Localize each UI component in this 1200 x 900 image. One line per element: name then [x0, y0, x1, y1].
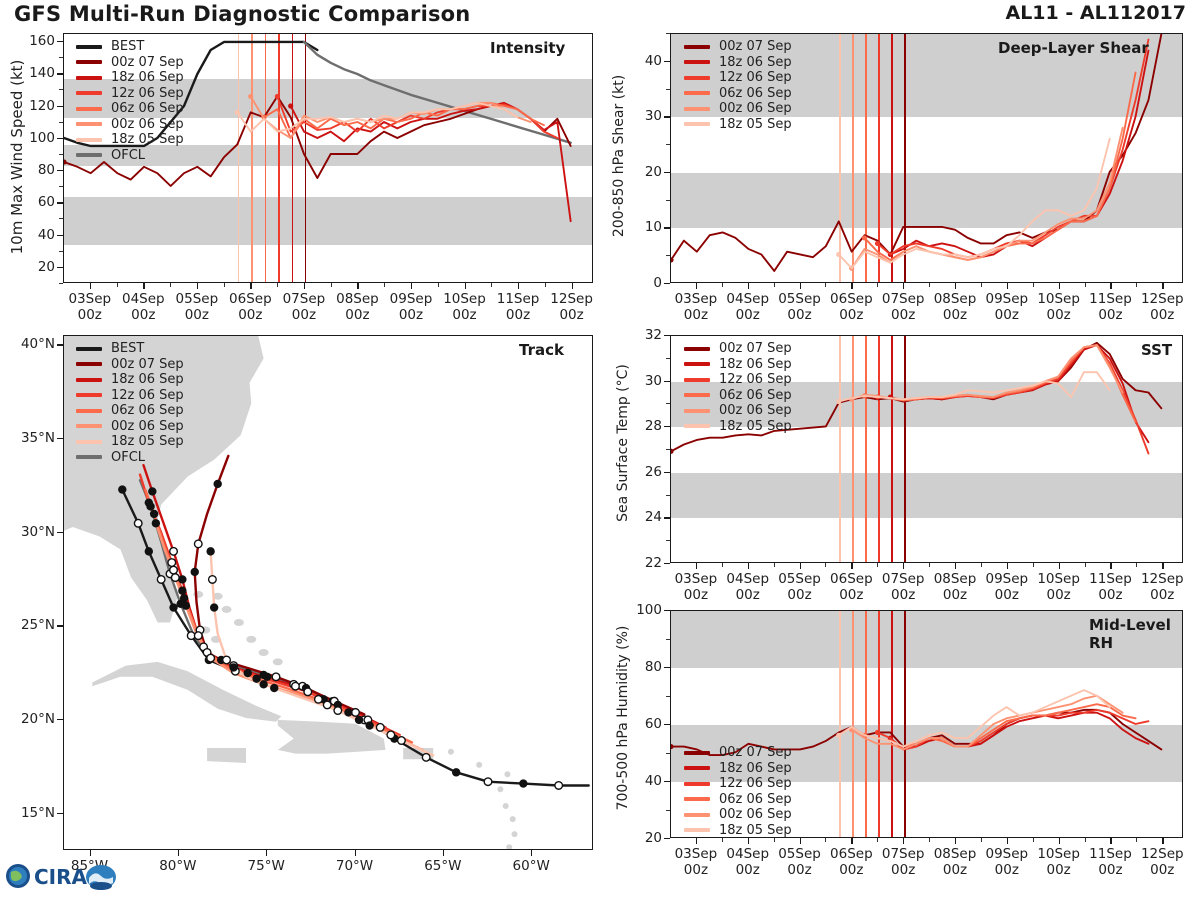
lat-tick-label: 30°N: [3, 524, 55, 540]
x-minor-tick-mark: [774, 563, 775, 567]
track-marker-00z: [178, 586, 186, 594]
lesser-antilles-island: [448, 749, 454, 755]
y-tick-mark: [57, 202, 63, 203]
track-marker-12z: [223, 656, 231, 664]
x-tick-label: 03Sep00z: [675, 292, 718, 324]
x-minor-tick-mark: [774, 283, 775, 287]
track-panel-title: Track: [519, 341, 564, 359]
bahamas-island: [222, 606, 232, 613]
series-start-marker: [63, 159, 67, 164]
legend-swatch-icon: [684, 91, 710, 95]
x-tick-mark: [143, 283, 144, 289]
bahamas-island: [246, 636, 256, 643]
x-tick-hour: 00z: [68, 308, 111, 324]
x-tick-hour: 00z: [830, 308, 873, 324]
track-marker-00z: [118, 485, 126, 493]
x-tick-hour: 00z: [1141, 308, 1184, 324]
series-start-marker: [288, 103, 293, 108]
legend-swatch-icon: [76, 440, 102, 444]
x-tick-date: 09Sep: [390, 292, 433, 308]
x-tick-mark: [903, 283, 904, 289]
x-minor-tick-mark: [1085, 838, 1086, 842]
legend-label: 12z 06 Sep: [111, 86, 184, 101]
shear-legend: 00z 07 Sep18z 06 Sep12z 06 Sep06z 06 Sep…: [684, 39, 792, 132]
y-tick-label: 20: [624, 830, 662, 846]
legend-swatch-icon: [684, 766, 710, 770]
x-tick-hour: 00z: [934, 588, 977, 604]
x-tick-label: 08Sep00z: [336, 292, 379, 324]
legend-swatch-icon: [76, 409, 102, 413]
x-tick-hour: 00z: [778, 308, 821, 324]
x-tick-label: 06Sep00z: [830, 847, 873, 879]
x-minor-tick-mark: [929, 838, 930, 842]
y-tick-label: 140: [17, 65, 55, 81]
x-tick-date: 03Sep: [68, 292, 111, 308]
track-marker-00z: [182, 601, 190, 609]
y-tick-label: 24: [624, 509, 662, 525]
x-tick-date: 12Sep: [1141, 292, 1184, 308]
x-minor-tick-mark: [981, 283, 982, 287]
x-tick-label: 11Sep00z: [1089, 847, 1132, 879]
x-tick-label: 07Sep00z: [882, 572, 925, 604]
x-tick-mark: [1110, 283, 1111, 289]
x-minor-tick-mark: [1033, 283, 1034, 287]
track-legend-entry: 00z 07 Sep: [76, 357, 184, 373]
x-minor-tick-mark: [277, 283, 278, 287]
legend-swatch-icon: [684, 107, 710, 111]
x-tick-hour: 00z: [986, 863, 1029, 879]
y-tick-label: 22: [624, 555, 662, 571]
track-marker-00z: [206, 547, 214, 555]
track-marker-12z: [209, 576, 217, 584]
legend-label: 18z 05 Sep: [111, 132, 184, 147]
x-tick-label: 10Sep00z: [1037, 572, 1080, 604]
lon-tick-label: 75°W: [248, 859, 285, 875]
y-tick-mark: [664, 335, 670, 336]
x-tick-date: 06Sep: [830, 572, 873, 588]
x-minor-tick-mark: [825, 838, 826, 842]
shear-panel-title: Deep-Layer Shear: [998, 39, 1149, 57]
x-tick-date: 12Sep: [1141, 847, 1184, 863]
x-tick-date: 07Sep: [882, 292, 925, 308]
x-tick-date: 11Sep: [1089, 847, 1132, 863]
x-tick-label: 08Sep00z: [934, 847, 977, 879]
x-tick-mark: [572, 283, 573, 289]
lat-tick-mark: [57, 532, 63, 533]
x-tick-hour: 00z: [934, 308, 977, 324]
y-tick-label: 100: [17, 130, 55, 146]
x-tick-hour: 00z: [336, 308, 379, 324]
y-tick-label: 60: [624, 716, 662, 732]
legend-swatch-icon: [76, 362, 102, 366]
y-minor-tick-mark: [666, 89, 670, 90]
legend-swatch-icon: [684, 347, 710, 351]
track-marker-12z: [172, 574, 180, 582]
legend-label: 00z 06 Sep: [719, 807, 792, 822]
track-marker-12z: [323, 701, 331, 709]
intensity-legend-entry: 18z 05 Sep: [76, 132, 184, 148]
y-minor-tick-mark: [666, 358, 670, 359]
y-minor-tick-mark: [666, 753, 670, 754]
series-start-marker: [836, 733, 841, 738]
legend-label: 18z 06 Sep: [719, 55, 792, 70]
y-tick-mark: [664, 426, 670, 427]
x-tick-mark: [1162, 838, 1163, 844]
y-minor-tick-mark: [59, 57, 63, 58]
x-tick-mark: [903, 838, 904, 844]
x-tick-hour: 00z: [882, 588, 925, 604]
x-tick-date: 07Sep: [882, 847, 925, 863]
sst-legend-entry: 00z 07 Sep: [684, 341, 792, 357]
lat-tick-label: 15°N: [3, 805, 55, 821]
intensity-legend-entry: 18z 06 Sep: [76, 70, 184, 86]
x-tick-mark: [955, 838, 956, 844]
y-tick-mark: [664, 781, 670, 782]
track-marker-00z: [259, 680, 267, 688]
x-tick-label: 06Sep00z: [229, 292, 272, 324]
legend-label: 18z 06 Sep: [111, 372, 184, 387]
y-tick-mark: [57, 138, 63, 139]
track-marker-00z: [229, 663, 237, 671]
lesser-antilles-island: [510, 816, 516, 822]
legend-label: 00z 06 Sep: [719, 403, 792, 418]
y-minor-tick-mark: [666, 540, 670, 541]
x-minor-tick-mark: [929, 563, 930, 567]
x-minor-tick-mark: [545, 283, 546, 287]
y-tick-mark: [664, 610, 670, 611]
x-tick-mark: [90, 283, 91, 289]
rh-legend-entry: 18z 06 Sep: [684, 761, 792, 777]
panel-intensity: 10m Max Wind Speed (kt) Intensity BEST00…: [0, 28, 600, 323]
rh-legend: 00z 07 Sep18z 06 Sep12z 06 Sep06z 06 Sep…: [684, 745, 792, 838]
panel-shear: 200-850 hPa Shear (kt) Deep-Layer Shear …: [600, 28, 1200, 323]
lesser-antilles-island: [506, 844, 512, 850]
x-tick-hour: 00z: [1037, 588, 1080, 604]
x-tick-label: 12Sep00z: [1141, 572, 1184, 604]
cira-logo: CIRA: [4, 856, 116, 896]
y-tick-label: 80: [17, 162, 55, 178]
y-tick-label: 60: [17, 194, 55, 210]
legend-label: 00z 07 Sep: [111, 357, 184, 372]
track-marker-00z: [270, 684, 278, 692]
x-tick-date: 03Sep: [675, 292, 718, 308]
legend-swatch-icon: [76, 122, 102, 126]
y-minor-tick-mark: [666, 810, 670, 811]
track-marker-12z: [168, 559, 176, 567]
x-tick-label: 05Sep00z: [778, 572, 821, 604]
x-tick-date: 08Sep: [934, 847, 977, 863]
x-minor-tick-mark: [877, 563, 878, 567]
legend-label: 12z 06 Sep: [719, 70, 792, 85]
x-tick-mark: [1162, 283, 1163, 289]
legend-label: 00z 07 Sep: [719, 341, 792, 356]
track-marker-12z: [315, 696, 323, 704]
legend-swatch-icon: [684, 751, 710, 755]
y-tick-mark: [57, 235, 63, 236]
legend-label: 18z 05 Sep: [719, 823, 792, 838]
y-minor-tick-mark: [666, 200, 670, 201]
y-tick-mark: [57, 73, 63, 74]
x-tick-mark: [1059, 838, 1060, 844]
lon-tick-mark: [443, 850, 444, 856]
x-tick-mark: [1007, 563, 1008, 569]
legend-label: 06z 06 Sep: [111, 101, 184, 116]
x-tick-date: 08Sep: [934, 572, 977, 588]
y-tick-label: 120: [17, 98, 55, 114]
x-tick-hour: 00z: [1037, 308, 1080, 324]
y-tick-label: 40: [624, 53, 662, 69]
x-tick-mark: [748, 563, 749, 569]
rh-legend-entry: 18z 05 Sep: [684, 823, 792, 839]
x-minor-tick-mark: [981, 838, 982, 842]
series-start-marker: [248, 94, 253, 99]
x-tick-mark: [1007, 838, 1008, 844]
intensity-legend-entry: BEST: [76, 39, 184, 55]
x-tick-mark: [800, 563, 801, 569]
x-tick-hour: 00z: [390, 308, 433, 324]
x-tick-hour: 00z: [443, 308, 486, 324]
x-tick-date: 10Sep: [1037, 847, 1080, 863]
x-tick-mark: [411, 283, 412, 289]
y-minor-tick-mark: [666, 495, 670, 496]
x-tick-mark: [1007, 283, 1008, 289]
track-marker-12z: [387, 731, 395, 739]
lon-tick-mark: [531, 850, 532, 856]
track-marker-12z: [484, 778, 492, 786]
x-tick-hour: 00z: [1141, 863, 1184, 879]
intensity-legend-entry: OFCL: [76, 148, 184, 164]
y-minor-tick-mark: [666, 696, 670, 697]
legend-label: 00z 06 Sep: [111, 117, 184, 132]
x-tick-hour: 00z: [726, 588, 769, 604]
figure-title-left: GFS Multi-Run Diagnostic Comparison: [14, 2, 470, 26]
legend-label: 12z 06 Sep: [719, 372, 792, 387]
shear-legend-entry: 06z 06 Sep: [684, 86, 792, 102]
legend-label: 18z 06 Sep: [719, 357, 792, 372]
track-marker-12z: [422, 754, 430, 762]
track-marker-00z: [214, 480, 222, 488]
x-tick-hour: 00z: [176, 308, 219, 324]
track-marker-00z: [191, 568, 199, 576]
legend-swatch-icon: [684, 424, 710, 428]
x-tick-date: 10Sep: [1037, 292, 1080, 308]
track-legend-entry: 18z 06 Sep: [76, 372, 184, 388]
y-tick-mark: [57, 267, 63, 268]
rh-legend-entry: 00z 07 Sep: [684, 745, 792, 761]
lon-tick-label: 80°W: [159, 859, 196, 875]
x-tick-hour: 00z: [1141, 588, 1184, 604]
x-tick-hour: 00z: [726, 308, 769, 324]
legend-swatch-icon: [684, 409, 710, 413]
lon-tick-mark: [355, 850, 356, 856]
y-tick-label: 30: [624, 373, 662, 389]
track-marker-12z: [352, 709, 360, 717]
x-minor-tick-mark: [722, 283, 723, 287]
x-minor-tick-mark: [929, 283, 930, 287]
legend-swatch-icon: [76, 138, 102, 142]
legend-label: 18z 05 Sep: [719, 117, 792, 132]
legend-label: 18z 06 Sep: [111, 70, 184, 85]
x-tick-date: 10Sep: [443, 292, 486, 308]
legend-label: 18z 06 Sep: [719, 761, 792, 776]
y-tick-mark: [664, 667, 670, 668]
x-tick-label: 06Sep00z: [830, 572, 873, 604]
intensity-legend-entry: 00z 07 Sep: [76, 55, 184, 71]
x-tick-date: 06Sep: [229, 292, 272, 308]
legend-label: 06z 06 Sep: [111, 403, 184, 418]
cira-logo-text: CIRA: [34, 865, 88, 889]
legend-swatch-icon: [684, 393, 710, 397]
x-tick-label: 09Sep00z: [986, 572, 1029, 604]
x-minor-tick-mark: [1085, 283, 1086, 287]
x-tick-date: 03Sep: [675, 572, 718, 588]
x-tick-date: 11Sep: [1089, 292, 1132, 308]
x-tick-date: 12Sep: [550, 292, 593, 308]
lat-tick-label: 40°N: [3, 336, 55, 352]
intensity-legend-entry: 12z 06 Sep: [76, 86, 184, 102]
track-marker-12z: [194, 540, 202, 548]
x-minor-tick-mark: [331, 283, 332, 287]
x-tick-date: 05Sep: [778, 572, 821, 588]
track-marker-00z: [180, 594, 188, 602]
legend-swatch-icon: [76, 378, 102, 382]
x-minor-tick-mark: [1136, 283, 1137, 287]
sst-legend: 00z 07 Sep18z 06 Sep12z 06 Sep06z 06 Sep…: [684, 341, 792, 434]
x-tick-hour: 00z: [122, 308, 165, 324]
lat-tick-mark: [57, 625, 63, 626]
legend-swatch-icon: [684, 122, 710, 126]
x-minor-tick-mark: [1136, 838, 1137, 842]
x-tick-label: 04Sep00z: [726, 847, 769, 879]
shear-legend-entry: 18z 05 Sep: [684, 117, 792, 133]
x-tick-mark: [800, 283, 801, 289]
panel-sst: Sea Surface Temp (°C) SST 00z 07 Sep18z …: [600, 330, 1200, 598]
track-marker-12z: [304, 688, 312, 696]
y-minor-tick-mark: [666, 639, 670, 640]
lat-tick-label: 20°N: [3, 711, 55, 727]
panel-rh: 700-500 hPa Humidity (%) Mid-Level RH 00…: [600, 605, 1200, 873]
x-tick-hour: 00z: [675, 588, 718, 604]
x-tick-mark: [304, 283, 305, 289]
x-minor-tick-mark: [170, 283, 171, 287]
x-tick-date: 09Sep: [986, 847, 1029, 863]
x-tick-label: 05Sep00z: [778, 292, 821, 324]
x-tick-hour: 00z: [726, 863, 769, 879]
x-minor-tick-mark: [384, 283, 385, 287]
legend-label: 18z 05 Sep: [111, 434, 184, 449]
x-minor-tick-mark: [722, 838, 723, 842]
legend-swatch-icon: [684, 378, 710, 382]
lon-tick-label: 60°W: [513, 859, 550, 875]
lon-tick-label: 65°W: [424, 859, 461, 875]
legend-swatch-icon: [684, 45, 710, 49]
shear-legend-entry: 18z 06 Sep: [684, 55, 792, 71]
figure-root: GFS Multi-Run Diagnostic Comparison AL11…: [0, 0, 1200, 900]
legend-swatch-icon: [76, 76, 102, 80]
x-tick-mark: [851, 838, 852, 844]
rh-legend-entry: 00z 06 Sep: [684, 807, 792, 823]
legend-label: 06z 06 Sep: [719, 86, 792, 101]
x-tick-hour: 00z: [882, 863, 925, 879]
track-marker-00z: [210, 603, 218, 611]
sst-legend-entry: 12z 06 Sep: [684, 372, 792, 388]
x-tick-date: 06Sep: [830, 292, 873, 308]
track-marker-12z: [170, 548, 178, 556]
shear-y-axis-label: 200-850 hPa Shear (kt): [611, 41, 627, 271]
track-marker-00z: [148, 487, 156, 495]
lesser-antilles-island: [512, 831, 518, 837]
lesser-antilles-island: [476, 762, 482, 768]
lat-tick-label: 35°N: [3, 430, 55, 446]
x-tick-date: 06Sep: [830, 847, 873, 863]
x-tick-label: 07Sep00z: [882, 292, 925, 324]
x-tick-date: 05Sep: [778, 847, 821, 863]
x-tick-mark: [465, 283, 466, 289]
legend-swatch-icon: [76, 347, 102, 351]
y-tick-label: 20: [17, 259, 55, 275]
y-tick-label: 32: [624, 327, 662, 343]
x-tick-hour: 00z: [550, 308, 593, 324]
x-tick-label: 08Sep00z: [934, 292, 977, 324]
y-minor-tick-mark: [59, 283, 63, 284]
x-tick-date: 07Sep: [882, 572, 925, 588]
series-start-marker: [875, 730, 880, 735]
x-tick-label: 10Sep00z: [1037, 292, 1080, 324]
lat-tick-mark: [57, 813, 63, 814]
legend-swatch-icon: [76, 455, 102, 459]
x-tick-date: 10Sep: [1037, 572, 1080, 588]
legend-swatch-icon: [684, 828, 710, 832]
x-tick-hour: 00z: [778, 588, 821, 604]
x-tick-date: 12Sep: [1141, 572, 1184, 588]
rh-panel-title: Mid-Level RH: [1089, 616, 1200, 652]
x-tick-label: 03Sep00z: [675, 847, 718, 879]
track-legend-entry: 00z 06 Sep: [76, 419, 184, 435]
y-tick-label: 20: [624, 164, 662, 180]
legend-label: OFCL: [111, 450, 145, 465]
legend-swatch-icon: [76, 91, 102, 95]
lesser-antilles-island: [504, 771, 510, 777]
y-tick-mark: [664, 838, 670, 839]
x-tick-mark: [955, 283, 956, 289]
x-tick-date: 03Sep: [675, 847, 718, 863]
legend-swatch-icon: [76, 153, 102, 157]
legend-swatch-icon: [76, 107, 102, 111]
x-tick-label: 04Sep00z: [726, 572, 769, 604]
x-minor-tick-mark: [224, 283, 225, 287]
legend-label: 00z 07 Sep: [111, 55, 184, 70]
series-start-marker: [836, 399, 841, 404]
legend-label: OFCL: [111, 148, 145, 163]
x-tick-hour: 00z: [283, 308, 326, 324]
series-start-marker: [275, 94, 280, 99]
x-tick-label: 10Sep00z: [443, 292, 486, 324]
x-minor-tick-mark: [877, 283, 878, 287]
lat-tick-label: 25°N: [3, 617, 55, 633]
y-tick-label: 100: [624, 602, 662, 618]
lat-tick-mark: [57, 438, 63, 439]
y-tick-label: 160: [17, 33, 55, 49]
series-line: [865, 345, 1136, 422]
x-tick-mark: [1110, 838, 1111, 844]
x-tick-mark: [748, 283, 749, 289]
y-minor-tick-mark: [59, 186, 63, 187]
x-tick-label: 09Sep00z: [390, 292, 433, 324]
x-tick-date: 05Sep: [778, 292, 821, 308]
x-tick-hour: 00z: [830, 588, 873, 604]
legend-label: BEST: [111, 39, 144, 54]
x-tick-label: 11Sep00z: [1089, 292, 1132, 324]
